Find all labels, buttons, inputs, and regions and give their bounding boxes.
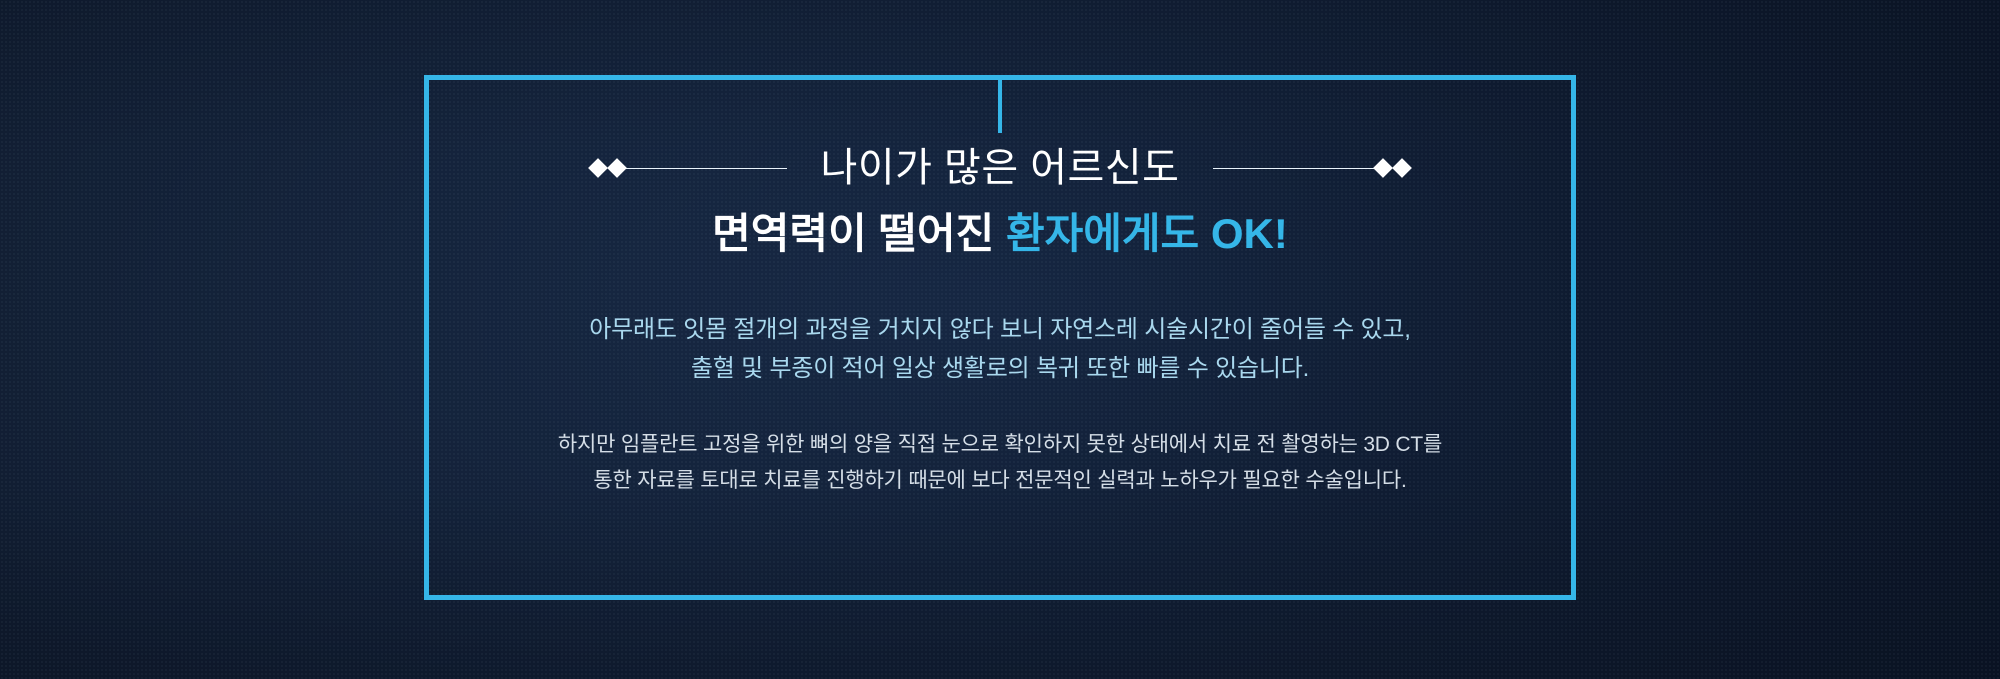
paragraph-secondary-line-1: 하지만 임플란트 고정을 위한 뼈의 양을 직접 눈으로 확인하지 못한 상태에…: [558, 427, 1442, 463]
headline-line-1: 나이가 많은 어르신도: [821, 148, 1180, 188]
headline-line1-row: 나이가 많은 어르신도: [424, 148, 1576, 188]
promo-banner: 나이가 많은 어르신도 면역력이 떨어진 환자에게도 OK! 아무래도 잇몸 절…: [0, 0, 2000, 679]
diamond-icon: [588, 158, 608, 178]
paragraph-primary: 아무래도 잇몸 절개의 과정을 거치지 않다 보니 자연스레 시술시간이 줄어들…: [589, 311, 1411, 389]
diamond-pair-right: [1376, 161, 1409, 175]
diamond-pair-left: [591, 161, 624, 175]
banner-content: 나이가 많은 어르신도 면역력이 떨어진 환자에게도 OK! 아무래도 잇몸 절…: [424, 75, 1576, 600]
paragraph-primary-line-2: 출혈 및 부종이 적어 일상 생활로의 복귀 또한 빠를 수 있습니다.: [589, 350, 1411, 389]
paragraph-secondary-line-2: 통한 자료를 토대로 치료를 진행하기 때문에 보다 전문적인 실력과 노하우가…: [558, 463, 1442, 499]
headline-line-2: 면역력이 떨어진 환자에게도 OK!: [712, 210, 1288, 258]
diamond-icon: [1393, 158, 1413, 178]
ornament-rule-right: [1213, 161, 1409, 175]
diamond-icon: [607, 158, 627, 178]
paragraph-secondary: 하지만 임플란트 고정을 위한 뼈의 양을 직접 눈으로 확인하지 못한 상태에…: [558, 427, 1442, 499]
diamond-icon: [1374, 158, 1394, 178]
paragraph-primary-line-1: 아무래도 잇몸 절개의 과정을 거치지 않다 보니 자연스레 시술시간이 줄어들…: [589, 311, 1411, 350]
ornament-rule-left: [591, 161, 787, 175]
rule-line-left: [624, 168, 787, 169]
rule-line-right: [1213, 168, 1376, 169]
headline-line-2-accent: 환자에게도 OK!: [1006, 210, 1288, 257]
headline-line-2-plain: 면역력이 떨어진: [712, 210, 1006, 257]
